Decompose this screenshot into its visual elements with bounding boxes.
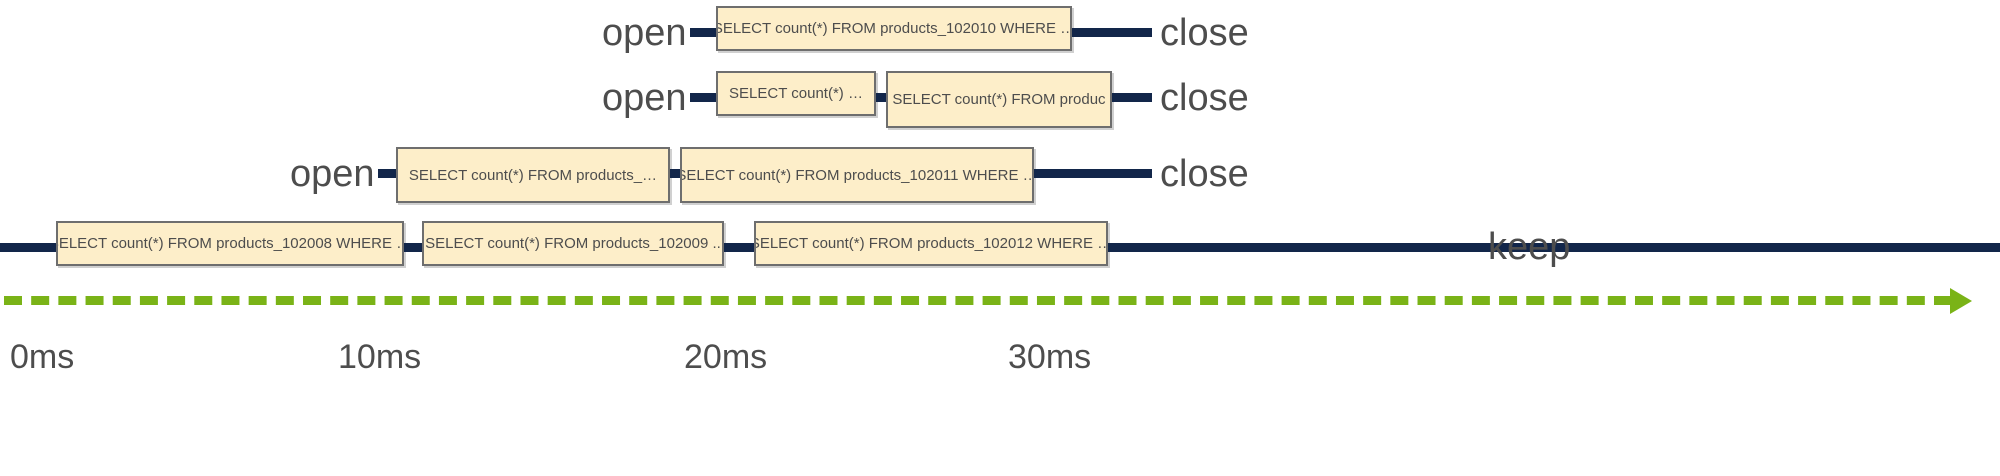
time-tick-label: 20ms bbox=[684, 340, 767, 374]
time-tick-label: 30ms bbox=[1008, 340, 1091, 374]
connection-segment bbox=[690, 28, 716, 37]
connection-segment bbox=[1072, 28, 1152, 37]
arrow-right-icon bbox=[1950, 288, 1972, 314]
time-tick-label: 10ms bbox=[338, 340, 421, 374]
time-tick-label: 0ms bbox=[10, 340, 74, 374]
open-label-row3: open bbox=[290, 155, 375, 193]
open-label-row2: open bbox=[602, 79, 687, 117]
connection-segment bbox=[876, 93, 886, 102]
task-box[interactable]: SELECT count(*) FROM products_102008 WHE… bbox=[56, 221, 404, 266]
task-box[interactable]: SELECT count(*) FROM products_102012 WHE… bbox=[754, 221, 1108, 266]
task-box[interactable]: SELECT count(*) FROM products_102010 WHE… bbox=[716, 6, 1072, 51]
task-box[interactable]: SELECT count(*) FROM products_102011 WHE… bbox=[680, 147, 1034, 203]
task-box[interactable]: SELECT count(*) FROM products_… bbox=[396, 147, 670, 203]
task-box[interactable]: SELECT count(*) FROM produc bbox=[886, 71, 1112, 128]
connection-segment bbox=[724, 243, 754, 252]
connection-segment bbox=[1034, 169, 1152, 178]
close-label-row3: close bbox=[1160, 155, 1249, 193]
timeline-diagram: open SELECT count(*) FROM products_10201… bbox=[0, 0, 2000, 476]
close-label-row2: close bbox=[1160, 79, 1249, 117]
connection-segment bbox=[690, 93, 716, 102]
connection-segment bbox=[404, 243, 422, 252]
time-axis-line bbox=[4, 296, 1952, 305]
keep-label-row4: keep bbox=[1488, 228, 1570, 266]
connection-segment bbox=[0, 243, 56, 252]
connection-segment bbox=[1112, 93, 1152, 102]
task-box[interactable]: SELECT count(*) FROM products_102009 .. bbox=[422, 221, 724, 266]
connection-segment bbox=[378, 169, 396, 178]
close-label-row1: close bbox=[1160, 14, 1249, 52]
connection-segment bbox=[670, 169, 680, 178]
open-label-row1: open bbox=[602, 14, 687, 52]
task-box[interactable]: SELECT count(*) … bbox=[716, 71, 876, 116]
